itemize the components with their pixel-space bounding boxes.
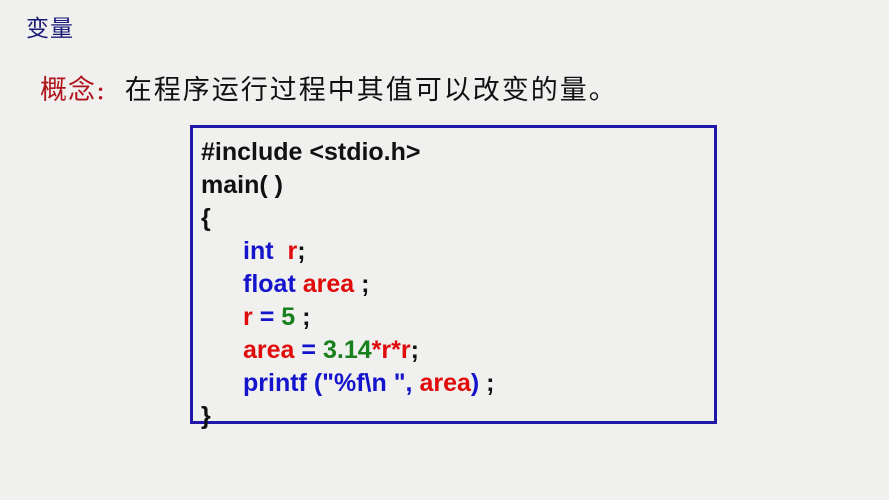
- code-token: ;: [411, 336, 419, 364]
- code-token: printf ("%f\n ",: [243, 369, 419, 397]
- code-token: ;: [479, 369, 494, 397]
- page-title: 变量: [26, 16, 74, 44]
- concept-label: 概念:: [40, 75, 106, 106]
- code-line: printf ("%f\n ", area) ;: [201, 367, 714, 400]
- code-token: 3.14: [323, 336, 372, 364]
- code-token: main( ): [201, 171, 283, 199]
- code-token: area: [303, 270, 354, 298]
- code-token: float: [243, 270, 296, 298]
- code-line: #include <stdio.h>: [201, 136, 714, 169]
- code-line: int r;: [201, 235, 714, 268]
- code-token: }: [201, 402, 211, 430]
- code-token: area: [243, 336, 294, 364]
- slide-canvas: 变量 概念: 在程序运行过程中其值可以改变的量。 #include <stdio…: [0, 0, 889, 500]
- code-token: #include <stdio.h>: [201, 138, 421, 166]
- concept-definition-line: 概念: 在程序运行过程中其值可以改变的量。: [40, 74, 618, 108]
- code-token: r: [287, 237, 297, 265]
- code-token: ;: [295, 303, 310, 331]
- code-line: float area ;: [201, 268, 714, 301]
- code-line: }: [201, 400, 714, 433]
- code-token: r: [243, 303, 253, 331]
- code-token: int: [243, 237, 274, 265]
- code-token: *r*r: [372, 336, 411, 364]
- code-token: 5: [281, 303, 295, 331]
- code-token: [274, 237, 288, 265]
- code-token: {: [201, 204, 211, 232]
- code-line: area = 3.14*r*r;: [201, 334, 714, 367]
- code-token: ;: [297, 237, 305, 265]
- code-token: =: [260, 303, 275, 331]
- code-token: area: [419, 369, 470, 397]
- code-token: [316, 336, 323, 364]
- code-token: [296, 270, 303, 298]
- code-example-box: #include <stdio.h>main( ){int r;float ar…: [190, 125, 717, 424]
- code-token: =: [301, 336, 316, 364]
- code-line: r = 5 ;: [201, 301, 714, 334]
- code-line: main( ): [201, 169, 714, 202]
- code-token: [253, 303, 260, 331]
- concept-description-text: 在程序运行过程中其值可以改变的量。: [125, 75, 618, 106]
- code-token: ;: [354, 270, 369, 298]
- code-token: ): [471, 369, 479, 397]
- code-line: {: [201, 202, 714, 235]
